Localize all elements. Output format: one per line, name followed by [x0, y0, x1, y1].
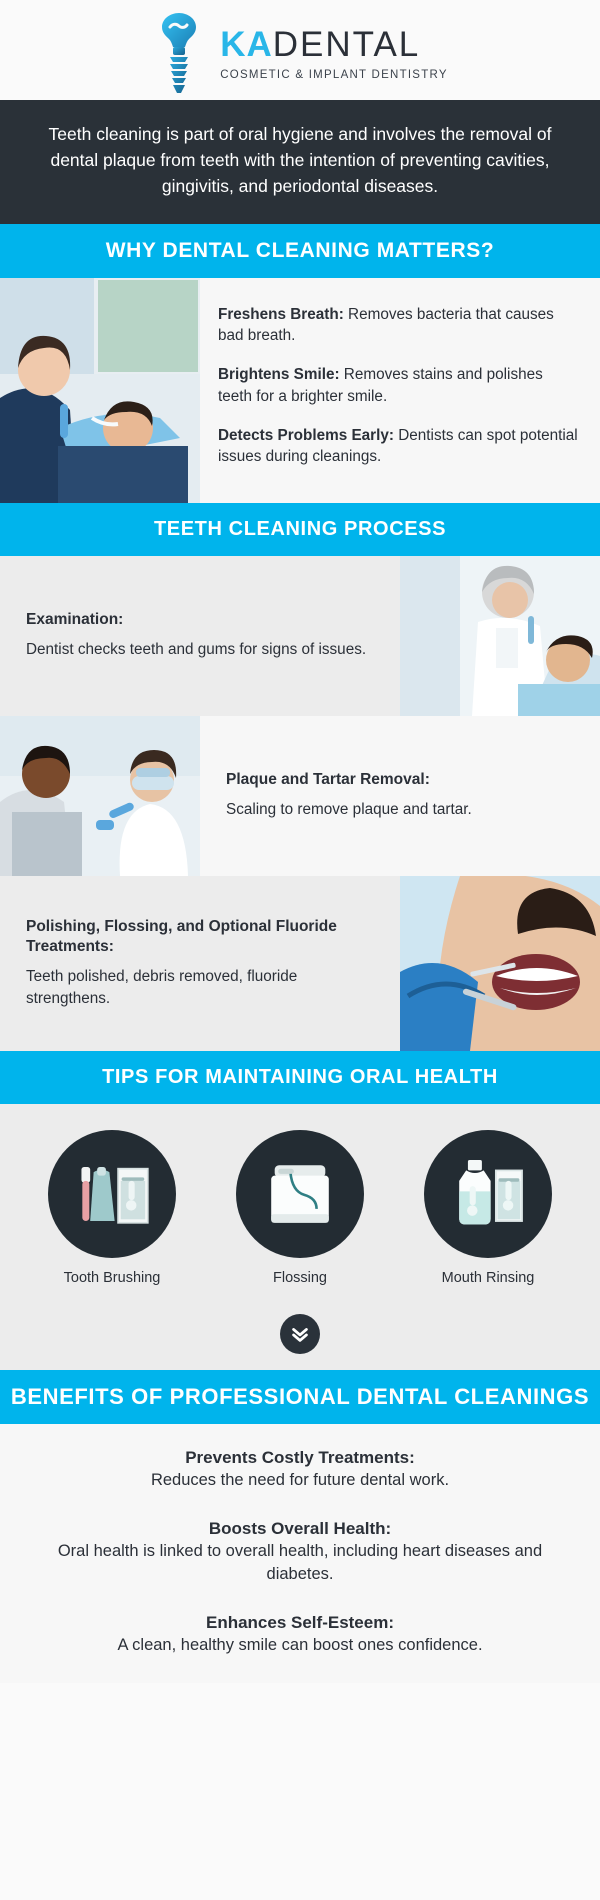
- double-chevron-down-icon[interactable]: [280, 1314, 320, 1354]
- intro-statement: Teeth cleaning is part of oral hygiene a…: [0, 100, 600, 224]
- patient-in-dental-chair-photo: [0, 716, 200, 876]
- process-step-row: Polishing, Flossing, and Optional Fluori…: [0, 876, 600, 1051]
- dental-floss-icon: [236, 1130, 364, 1258]
- tip-label: Flossing: [215, 1270, 385, 1286]
- section-banner-benefits: BENEFITS OF PROFESSIONAL DENTAL CLEANING…: [0, 1370, 600, 1424]
- tip-item: Flossing: [215, 1130, 385, 1286]
- tip-item: Tooth Brushing: [27, 1130, 197, 1286]
- why-points-list: Freshens Breath: Removes bacteria that c…: [200, 278, 600, 503]
- brand-header: KADENTAL COSMETIC & IMPLANT DENTISTRY: [0, 0, 600, 100]
- brand-wordmark: KADENTAL COSMETIC & IMPLANT DENTISTRY: [220, 25, 448, 81]
- process-step-copy: Plaque and Tartar Removal: Scaling to re…: [200, 716, 600, 876]
- brand-name-accent: KA: [220, 25, 273, 64]
- benefit-body: Oral health is linked to overall health,…: [24, 1540, 576, 1586]
- benefit-title: Enhances Self-Esteem:: [24, 1611, 576, 1635]
- process-step-title: Plaque and Tartar Removal:: [226, 770, 574, 791]
- why-point-title: Detects Problems Early:: [218, 427, 394, 444]
- benefit-title: Prevents Costly Treatments:: [24, 1446, 576, 1470]
- mouthwash-bottle-icon: [424, 1130, 552, 1258]
- benefit-title: Boosts Overall Health:: [24, 1517, 576, 1541]
- process-step-row: Examination: Dentist checks teeth and gu…: [0, 556, 600, 716]
- scroll-down-area: [0, 1296, 600, 1370]
- section-banner-tips: TIPS FOR MAINTAINING ORAL HEALTH: [0, 1051, 600, 1104]
- why-point: Brightens Smile: Removes stains and poli…: [218, 364, 578, 407]
- benefit-body: Reduces the need for future dental work.: [24, 1469, 576, 1492]
- why-point: Detects Problems Early: Dentists can spo…: [218, 425, 578, 468]
- dentist-examining-patient-photo: [400, 556, 600, 716]
- benefit-item: Boosts Overall Health: Oral health is li…: [24, 1517, 576, 1587]
- why-point-title: Freshens Breath:: [218, 306, 344, 323]
- why-point-title: Brightens Smile:: [218, 366, 340, 383]
- process-step-title: Polishing, Flossing, and Optional Fluori…: [26, 917, 374, 959]
- benefit-item: Prevents Costly Treatments: Reduces the …: [24, 1446, 576, 1493]
- tips-section: Tooth Brushing Flossing: [0, 1104, 600, 1296]
- brand-name-main: DENTAL: [273, 25, 421, 64]
- toothbrush-and-toothpaste-icon: [48, 1130, 176, 1258]
- hygienist-with-patient-photo: [0, 278, 200, 503]
- benefits-section: Prevents Costly Treatments: Reduces the …: [0, 1424, 600, 1684]
- dental-implant-icon: [152, 11, 206, 95]
- process-step-row: Plaque and Tartar Removal: Scaling to re…: [0, 716, 600, 876]
- process-step-copy: Polishing, Flossing, and Optional Fluori…: [0, 876, 400, 1051]
- process-step-body: Scaling to remove plaque and tartar.: [226, 799, 574, 821]
- process-step-copy: Examination: Dentist checks teeth and gu…: [0, 556, 400, 716]
- tip-label: Mouth Rinsing: [403, 1270, 573, 1286]
- process-step-title: Examination:: [26, 610, 374, 631]
- tip-label: Tooth Brushing: [27, 1270, 197, 1286]
- why-point: Freshens Breath: Removes bacteria that c…: [218, 304, 578, 347]
- brand-tagline: COSMETIC & IMPLANT DENTISTRY: [220, 69, 448, 81]
- tip-item: Mouth Rinsing: [403, 1130, 573, 1286]
- benefit-item: Enhances Self-Esteem: A clean, healthy s…: [24, 1611, 576, 1658]
- benefit-body: A clean, healthy smile can boost ones co…: [24, 1634, 576, 1657]
- close-up-teeth-cleaning-photo: [400, 876, 600, 1051]
- section-banner-why: WHY DENTAL CLEANING MATTERS?: [0, 224, 600, 278]
- why-section: Freshens Breath: Removes bacteria that c…: [0, 278, 600, 503]
- section-banner-process: TEETH CLEANING PROCESS: [0, 503, 600, 556]
- process-step-body: Dentist checks teeth and gums for signs …: [26, 639, 374, 661]
- infographic-page: KADENTAL COSMETIC & IMPLANT DENTISTRY Te…: [0, 0, 600, 1900]
- process-step-body: Teeth polished, debris removed, fluoride…: [26, 966, 374, 1009]
